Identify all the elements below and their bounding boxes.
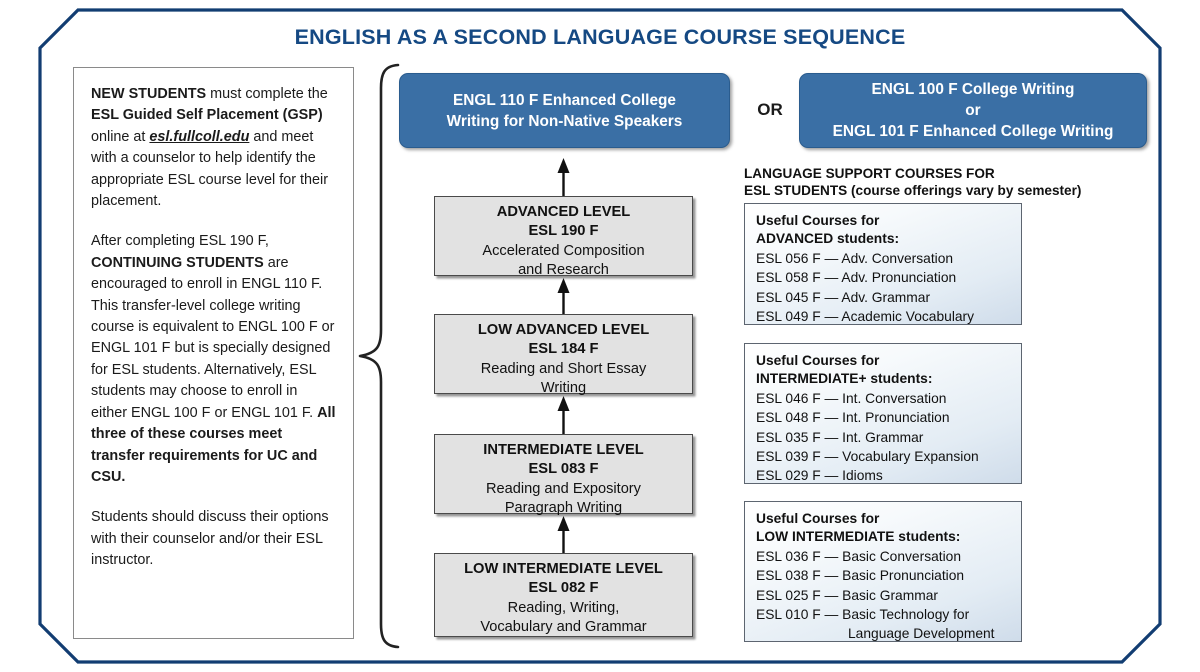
continuing-students-label: CONTINUING STUDENTS: [91, 255, 264, 271]
instructions-paragraph-3: Students should discuss their options wi…: [91, 507, 336, 571]
arrow-190-to-engl110-icon: [434, 156, 693, 196]
arrow-083-to-184-icon: [434, 394, 693, 434]
instructions-text: must complete the: [206, 86, 328, 102]
support-section-heading: LANGUAGE SUPPORT COURSES FOR ESL STUDENT…: [744, 166, 1164, 199]
support-course-row: ESL 035 F — Int. Grammar: [756, 428, 1011, 447]
support-course-row: ESL 029 F — Idioms: [756, 466, 1011, 485]
level-desc-line-1: Reading and Expository: [435, 480, 692, 500]
engl-110-line-1: ENGL 110 F Enhanced College: [447, 90, 683, 111]
support-course-row: ESL 010 F — Basic Technology for: [756, 605, 1011, 624]
level-code: ESL 184 F: [435, 340, 692, 359]
level-desc-line-2: Writing: [435, 379, 692, 399]
support-box-header-line-2: INTERMEDIATE+ students:: [756, 370, 1011, 388]
engl-100-line-1: ENGL 100 F College Writing: [833, 79, 1114, 100]
support-box-header-line-2: LOW INTERMEDIATE students:: [756, 528, 1011, 546]
level-box-esl-082[interactable]: LOW INTERMEDIATE LEVEL ESL 082 F Reading…: [434, 553, 693, 637]
support-course-row: ESL 038 F — Basic Pronunciation: [756, 566, 1011, 585]
support-box-header-line-2: ADVANCED students:: [756, 230, 1011, 248]
grouping-brace-icon: [356, 62, 402, 650]
arrow-184-to-190-icon: [434, 276, 693, 316]
engl-100-line-3: ENGL 101 F Enhanced College Writing: [833, 121, 1114, 142]
gsp-url-link[interactable]: esl.fullcoll.edu: [149, 129, 249, 145]
support-box-advanced[interactable]: Useful Courses for ADVANCED students: ES…: [744, 203, 1022, 325]
support-heading-line-2: ESL STUDENTS (course offerings vary by s…: [744, 183, 1164, 200]
level-box-esl-083[interactable]: INTERMEDIATE LEVEL ESL 083 F Reading and…: [434, 434, 693, 514]
level-desc-line-1: Reading and Short Essay: [435, 360, 692, 380]
level-name: ADVANCED LEVEL: [435, 203, 692, 222]
instructions-text: are encouraged to enroll in ENGL 110 F. …: [91, 255, 334, 421]
level-code: ESL 190 F: [435, 222, 692, 241]
support-box-header-line-1: Useful Courses for: [756, 352, 1011, 370]
engl-100-101-box[interactable]: ENGL 100 F College Writing or ENGL 101 F…: [799, 73, 1147, 148]
instructions-panel: NEW STUDENTS must complete the ESL Guide…: [73, 67, 354, 639]
page-title: ENGLISH AS A SECOND LANGUAGE COURSE SEQU…: [0, 25, 1200, 50]
support-course-row: ESL 056 F — Adv. Conversation: [756, 249, 1011, 268]
new-students-label: NEW STUDENTS: [91, 86, 206, 102]
level-desc-line-1: Accelerated Composition: [435, 242, 692, 262]
level-desc-line-2: and Research: [435, 261, 692, 281]
instructions-paragraph-1: NEW STUDENTS must complete the ESL Guide…: [91, 84, 336, 212]
level-name: LOW INTERMEDIATE LEVEL: [435, 560, 692, 579]
level-box-esl-190[interactable]: ADVANCED LEVEL ESL 190 F Accelerated Com…: [434, 196, 693, 276]
level-code: ESL 083 F: [435, 460, 692, 479]
support-course-row: ESL 049 F — Academic Vocabulary: [756, 307, 1011, 326]
diagram-canvas: ENGLISH AS A SECOND LANGUAGE COURSE SEQU…: [0, 0, 1200, 672]
support-box-low-intermediate[interactable]: Useful Courses for LOW INTERMEDIATE stud…: [744, 501, 1022, 642]
support-box-intermediate-plus[interactable]: Useful Courses for INTERMEDIATE+ student…: [744, 343, 1022, 484]
level-desc-line-2: Vocabulary and Grammar: [435, 618, 692, 638]
engl-110-box[interactable]: ENGL 110 F Enhanced College Writing for …: [399, 73, 730, 148]
support-course-row: ESL 036 F — Basic Conversation: [756, 547, 1011, 566]
support-course-row: ESL 039 F — Vocabulary Expansion: [756, 447, 1011, 466]
support-course-row: ESL 045 F — Adv. Grammar: [756, 288, 1011, 307]
or-connector-label: OR: [744, 100, 796, 120]
support-course-row: ESL 058 F — Adv. Pronunciation: [756, 268, 1011, 287]
support-course-row: ESL 048 F — Int. Pronunciation: [756, 408, 1011, 427]
support-course-row: ESL 025 F — Basic Grammar: [756, 586, 1011, 605]
engl-100-line-2: or: [833, 100, 1114, 121]
instructions-text: After completing ESL 190 F,: [91, 233, 269, 249]
level-desc-line-2: Paragraph Writing: [435, 499, 692, 519]
arrow-082-to-083-icon: [434, 514, 693, 554]
instructions-paragraph-2: After completing ESL 190 F, CONTINUING S…: [91, 231, 336, 488]
level-box-esl-184[interactable]: LOW ADVANCED LEVEL ESL 184 F Reading and…: [434, 314, 693, 394]
support-box-header-line-1: Useful Courses for: [756, 510, 1011, 528]
support-course-row: ESL 046 F — Int. Conversation: [756, 389, 1011, 408]
level-code: ESL 082 F: [435, 579, 692, 598]
level-name: LOW ADVANCED LEVEL: [435, 321, 692, 340]
engl-110-line-2: Writing for Non-Native Speakers: [447, 111, 683, 132]
gsp-label: ESL Guided Self Placement (GSP): [91, 107, 323, 123]
support-course-row: Language Development: [756, 624, 1011, 643]
support-box-header-line-1: Useful Courses for: [756, 212, 1011, 230]
level-name: INTERMEDIATE LEVEL: [435, 441, 692, 460]
level-desc-line-1: Reading, Writing,: [435, 599, 692, 619]
instructions-text: online at: [91, 129, 149, 145]
support-heading-line-1: LANGUAGE SUPPORT COURSES FOR: [744, 166, 1164, 183]
